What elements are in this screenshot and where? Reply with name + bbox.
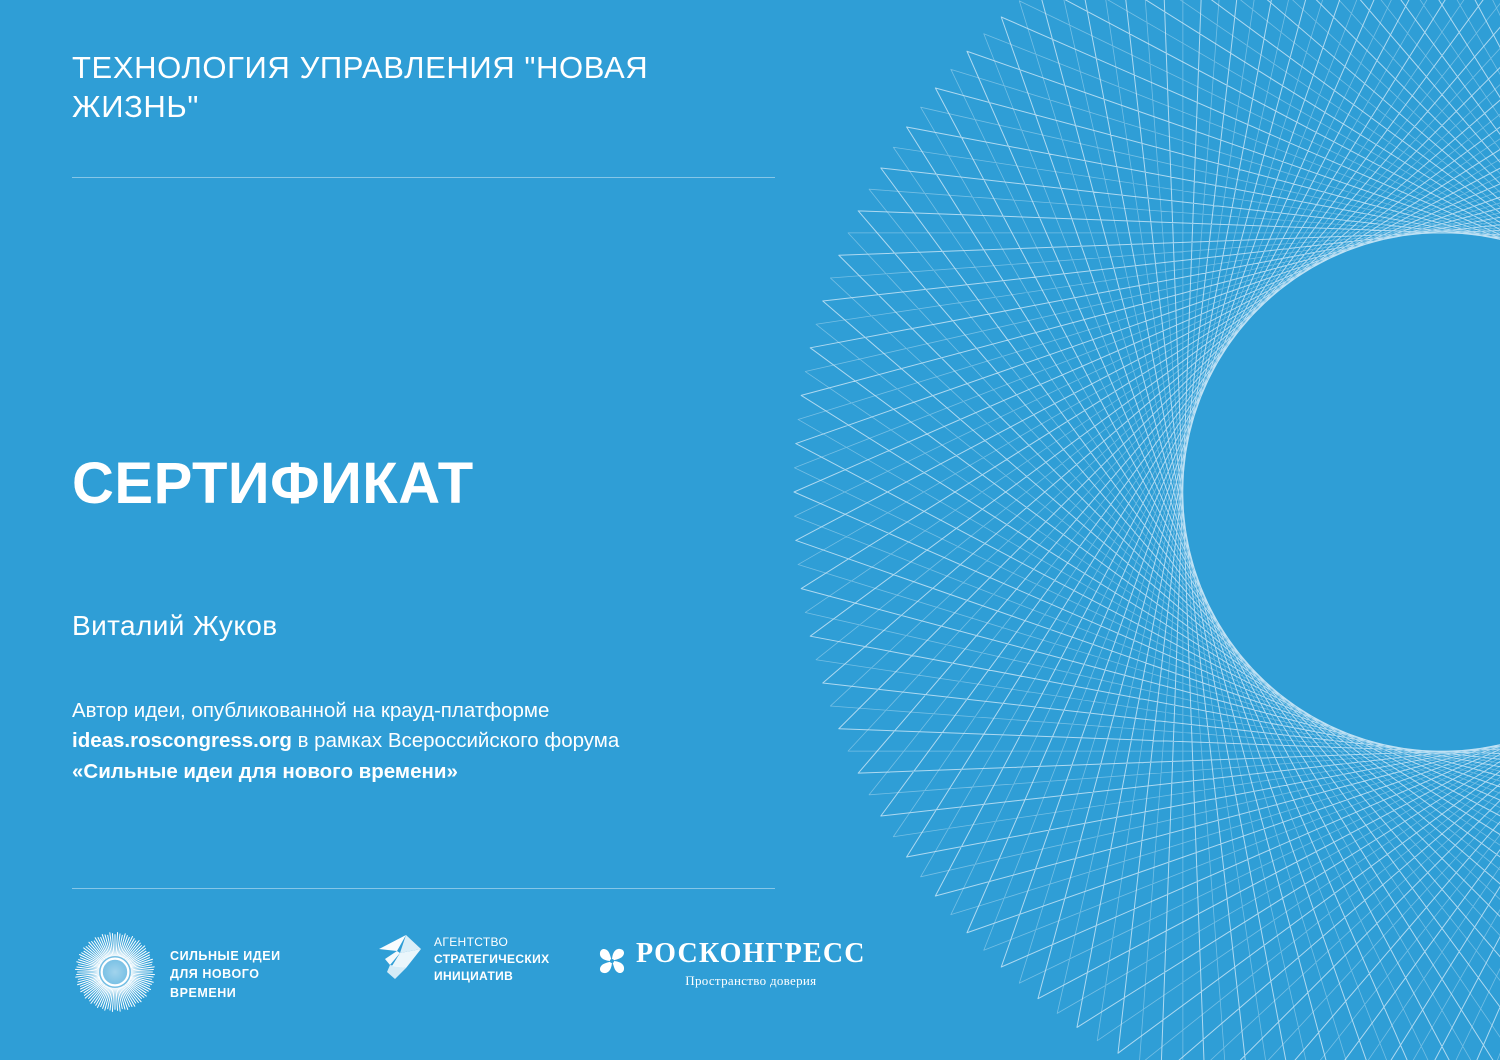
page-title: ТЕХНОЛОГИЯ УПРАВЛЕНИЯ "НОВАЯ ЖИЗНЬ": [72, 48, 782, 127]
body-line-1: Автор идеи, опубликованной на крауд-плат…: [72, 699, 549, 722]
logo-asi-line-3: ИНИЦИАТИВ: [434, 968, 549, 985]
logo-roscongress: РОСКОНГРЕСС Пространство доверия: [597, 940, 866, 987]
logo-asi: АГЕНТСТВО СТРАТЕГИЧЕСКИХ ИНИЦИАТИВ: [377, 932, 549, 987]
body-line-2: в рамках Всероссийского форума: [292, 729, 619, 752]
forum-name: «Сильные идеи для нового времени»: [72, 757, 742, 787]
logo-roscongress-tagline: Пространство доверия: [636, 974, 866, 987]
logo-roscongress-text: РОСКОНГРЕСС Пространство доверия: [636, 940, 866, 987]
logo-asi-line-1: АГЕНТСТВО: [434, 934, 549, 951]
divider-bottom: [72, 888, 775, 889]
logo-asi-label: АГЕНТСТВО СТРАТЕГИЧЕСКИХ ИНИЦИАТИВ: [434, 934, 549, 985]
sunburst-rays-icon: [72, 929, 158, 1020]
logo-strong-ideas-label: СИЛЬНЫЕ ИДЕИ ДЛЯ НОВОГО ВРЕМЕНИ: [170, 947, 281, 1001]
platform-url: ideas.roscongress.org: [72, 729, 292, 752]
divider-top: [72, 177, 775, 178]
logo-strip: СИЛЬНЫЕ ИДЕИ ДЛЯ НОВОГО ВРЕМЕНИ: [72, 925, 792, 1025]
pinwheel-icon: [597, 946, 627, 981]
certificate-heading: СЕРТИФИКАТ: [72, 455, 474, 513]
recipient-name: Виталий Жуков: [72, 612, 278, 640]
logo-roscongress-name: РОСКОНГРЕСС: [636, 940, 866, 968]
certificate-page: ТЕХНОЛОГИЯ УПРАВЛЕНИЯ "НОВАЯ ЖИЗНЬ" СЕРТ…: [0, 0, 1500, 1060]
logo-asi-line-2: СТРАТЕГИЧЕСКИХ: [434, 951, 549, 968]
certificate-content: ТЕХНОЛОГИЯ УПРАВЛЕНИЯ "НОВАЯ ЖИЗНЬ" СЕРТ…: [72, 0, 792, 1060]
logo-strong-ideas: СИЛЬНЫЕ ИДЕИ ДЛЯ НОВОГО ВРЕМЕНИ: [72, 929, 281, 1020]
certificate-body: Автор идеи, опубликованной на крауд-плат…: [72, 696, 742, 787]
asi-arrow-icon: [377, 932, 425, 987]
